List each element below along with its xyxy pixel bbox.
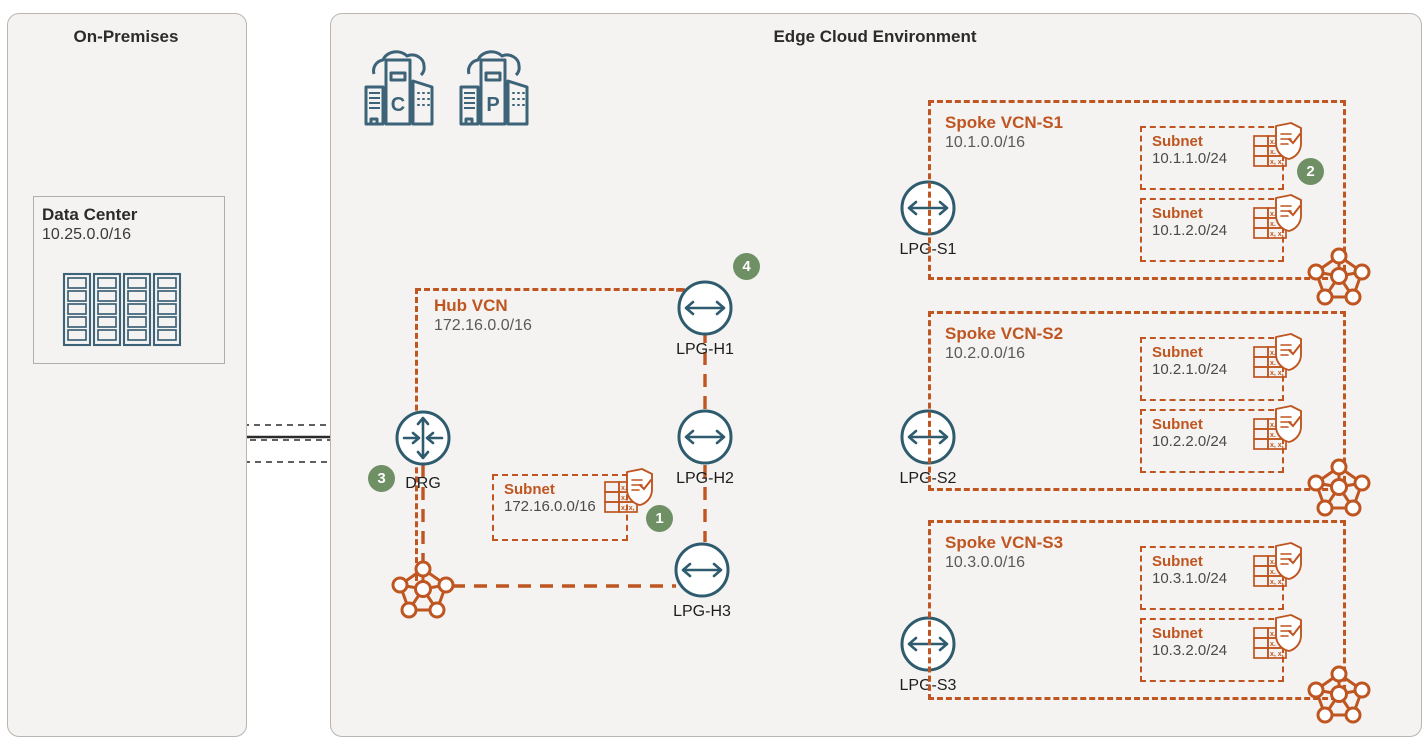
svg-text:x.: x. <box>1270 350 1276 357</box>
spoke-s2-subnet-2-labels: Subnet 10.2.2.0/24 <box>1152 416 1227 451</box>
svg-text:x.: x. <box>1270 432 1276 439</box>
hub-network-mesh-icon <box>392 558 454 618</box>
svg-text:x, x,: x, x, <box>621 505 635 512</box>
badge-3: 3 <box>368 465 395 492</box>
svg-text:x.: x. <box>1270 221 1276 228</box>
subnet-cidr: 10.2.1.0/24 <box>1152 361 1227 379</box>
subnet-cidr: 10.2.2.0/24 <box>1152 433 1227 451</box>
svg-text:x.: x. <box>1270 139 1276 146</box>
spoke-s2-subnet-2-route-table-security-icon: x.x.x, x, <box>1253 405 1303 457</box>
lpg-h3-label: LPG-H3 <box>652 603 752 621</box>
spoke-vcn-s3-label: Spoke VCN-S3 10.3.0.0/16 <box>945 533 1063 573</box>
spoke-s3-subnet-2-route-table-security-icon: x.x.x, x, <box>1253 614 1303 666</box>
spoke-s1-subnet-2-route-table-security-icon: x.x.x, x, <box>1253 194 1303 246</box>
svg-text:x, x,: x, x, <box>1270 370 1284 377</box>
spoke-vcn-s3-name: Spoke VCN-S3 <box>945 533 1063 553</box>
lpg-h1-icon[interactable] <box>676 279 734 337</box>
spoke-s3-subnet-1-route-table-security-icon: x.x.x, x, <box>1253 542 1303 594</box>
spoke-s2-network-mesh-icon <box>1308 456 1370 516</box>
spoke-s2-subnet-1-route-table-security-icon: x.x.x, x, <box>1253 333 1303 385</box>
hub-subnet-cidr: 172.16.0.0/16 <box>504 498 596 516</box>
svg-text:x.: x. <box>1270 149 1276 156</box>
spoke-vcn-s3-cidr: 10.3.0.0/16 <box>945 553 1063 573</box>
lpg-h3-icon[interactable] <box>673 541 731 599</box>
spoke-vcn-s2-label: Spoke VCN-S2 10.2.0.0/16 <box>945 324 1063 364</box>
on-premises-title: On-Premises <box>7 27 245 47</box>
data-center-cidr: 10.25.0.0/16 <box>42 225 217 244</box>
spoke-s3-subnet-2-labels: Subnet 10.3.2.0/24 <box>1152 625 1227 660</box>
diagram-canvas: On-Premises Data Center 10.25.0.0/16 <box>0 0 1427 752</box>
spoke-s1-subnet-2-labels: Subnet 10.1.2.0/24 <box>1152 205 1227 240</box>
hub-vcn-cidr: 172.16.0.0/16 <box>434 316 532 336</box>
on-premises-panel <box>7 13 247 737</box>
hub-vcn-label: Hub VCN 172.16.0.0/16 <box>434 296 532 336</box>
subnet-name: Subnet <box>1152 205 1227 222</box>
spoke-vcn-s2-name: Spoke VCN-S2 <box>945 324 1063 344</box>
subnet-cidr: 10.3.1.0/24 <box>1152 570 1227 588</box>
subnet-name: Subnet <box>1152 625 1227 642</box>
cloud-building-p-icon: P <box>457 43 533 129</box>
spoke-vcn-s1-name: Spoke VCN-S1 <box>945 113 1063 133</box>
subnet-cidr: 10.3.2.0/24 <box>1152 642 1227 660</box>
spoke-vcn-s1-cidr: 10.1.0.0/16 <box>945 133 1063 153</box>
svg-text:x.: x. <box>1270 360 1276 367</box>
spoke-s3-network-mesh-icon <box>1308 663 1370 723</box>
lpg-h2-label: LPG-H2 <box>655 470 755 488</box>
data-center-name: Data Center <box>42 205 217 225</box>
badge-2: 2 <box>1297 158 1324 185</box>
svg-text:x.: x. <box>1270 422 1276 429</box>
svg-text:x, x,: x, x, <box>1270 579 1284 586</box>
subnet-name: Subnet <box>1152 133 1227 150</box>
spoke-s1-subnet-1-labels: Subnet 10.1.1.0/24 <box>1152 133 1227 168</box>
svg-text:x.: x. <box>621 495 627 502</box>
svg-text:x, x,: x, x, <box>1270 651 1284 658</box>
data-center-labels: Data Center 10.25.0.0/16 <box>42 205 217 244</box>
lpg-h2-icon[interactable] <box>676 408 734 466</box>
subnet-cidr: 10.1.2.0/24 <box>1152 222 1227 240</box>
svg-text:x, x,: x, x, <box>1270 442 1284 449</box>
spoke-vcn-s1-label: Spoke VCN-S1 10.1.0.0/16 <box>945 113 1063 153</box>
lpg-h1-label: LPG-H1 <box>655 341 755 359</box>
subnet-name: Subnet <box>1152 344 1227 361</box>
svg-text:x, x,: x, x, <box>1270 231 1284 238</box>
svg-text:x.: x. <box>1270 559 1276 566</box>
svg-text:x.: x. <box>1270 569 1276 576</box>
spoke-s1-subnet-1-route-table-security-icon: x.x.x, x, <box>1253 122 1303 174</box>
cloud-building-c-icon: C <box>362 43 438 129</box>
svg-text:x.: x. <box>1270 641 1276 648</box>
drg-icon[interactable] <box>394 409 452 467</box>
subnet-name: Subnet <box>1152 416 1227 433</box>
svg-text:x.: x. <box>1270 631 1276 638</box>
svg-text:x, x,: x, x, <box>1270 159 1284 166</box>
spoke-vcn-s2-cidr: 10.2.0.0/16 <box>945 344 1063 364</box>
badge-1: 1 <box>646 505 673 532</box>
hub-subnet-labels: Subnet 172.16.0.0/16 <box>504 481 596 516</box>
server-rack-icon <box>62 272 182 347</box>
spoke-s3-subnet-1-labels: Subnet 10.3.1.0/24 <box>1152 553 1227 588</box>
spoke-s2-subnet-1-labels: Subnet 10.2.1.0/24 <box>1152 344 1227 379</box>
spoke-s1-network-mesh-icon <box>1308 245 1370 305</box>
hub-vcn-name: Hub VCN <box>434 296 532 316</box>
hub-subnet-name: Subnet <box>504 481 596 498</box>
svg-text:x.: x. <box>621 485 627 492</box>
badge-4: 4 <box>733 253 760 280</box>
svg-text:C: C <box>391 94 405 116</box>
subnet-name: Subnet <box>1152 553 1227 570</box>
svg-text:P: P <box>486 94 499 116</box>
subnet-cidr: 10.1.1.0/24 <box>1152 150 1227 168</box>
svg-text:x.: x. <box>1270 211 1276 218</box>
